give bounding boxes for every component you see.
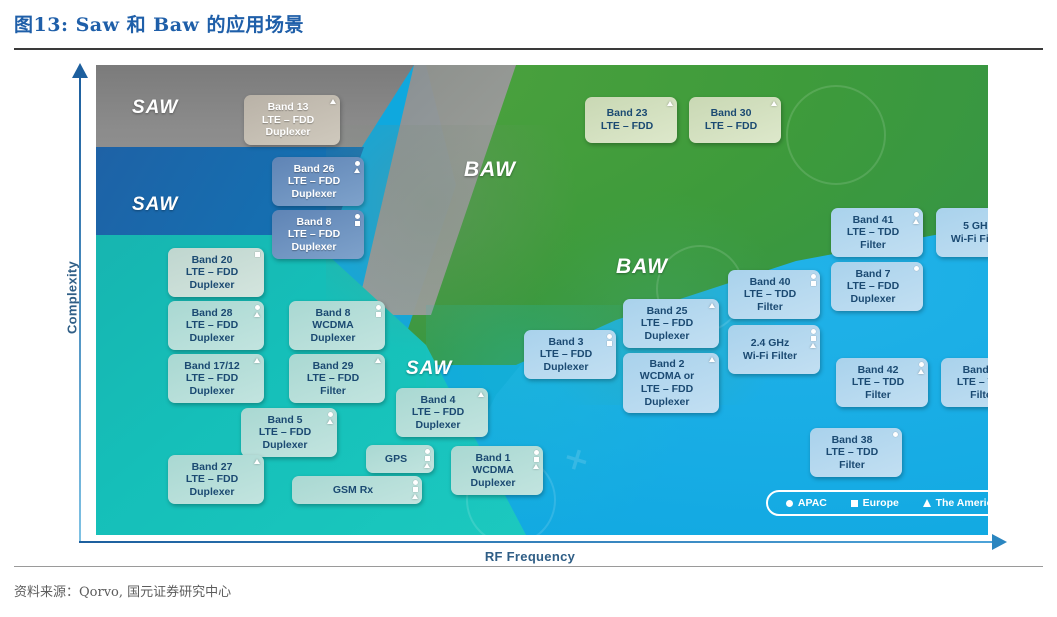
triangle-marker-icon (412, 494, 418, 499)
band-node-band-38[interactable]: Band 38LTE – TDDFilter (810, 428, 902, 477)
region-markers (810, 329, 816, 348)
circle-marker-icon (893, 432, 898, 437)
circle-marker-icon (914, 212, 919, 217)
band-node-line: Band 29 (313, 360, 354, 373)
region-markers (709, 303, 715, 308)
band-node-line: Duplexer (190, 279, 235, 292)
band-node-band-43[interactable]: Band 43LTE – TDDFilter (941, 358, 988, 407)
y-axis-arrow-icon (72, 63, 88, 78)
triangle-marker-icon (254, 459, 260, 464)
circle-marker-icon (355, 214, 360, 219)
source-note: 资料来源：Qorvo, 国元证券研究中心 (14, 581, 231, 600)
band-node-line: Band 5 (267, 414, 302, 427)
band-node-line: GPS (385, 453, 407, 466)
band-node-band-29[interactable]: Band 29LTE – FDDFilter (289, 354, 385, 403)
band-node-band-25[interactable]: Band 25LTE – FDDDuplexer (623, 299, 719, 348)
triangle-marker-icon (709, 303, 715, 308)
band-node-line: LTE – FDD (186, 319, 238, 332)
region-markers (533, 450, 539, 469)
band-node-line: Filter (757, 301, 783, 314)
band-node-band-2[interactable]: Band 2WCDMA orLTE – FDDDuplexer (623, 353, 719, 413)
band-node-gps[interactable]: GPS (366, 445, 434, 473)
square-marker-icon (811, 281, 816, 286)
band-node-line: GSM Rx (333, 484, 373, 497)
region-markers (254, 358, 260, 363)
band-node-band-3[interactable]: Band 3LTE – FDDDuplexer (524, 330, 616, 379)
triangle-marker-icon (327, 419, 333, 424)
band-node-line: Band 13 (268, 101, 309, 114)
triangle-marker-icon (354, 168, 360, 173)
square-marker-icon (851, 500, 858, 507)
band-node-line: Band 41 (853, 214, 894, 227)
band-node-line: Band 27 (192, 461, 233, 474)
legend: APAC Europe The Americas (766, 490, 988, 516)
band-node-line: Band 30 (711, 107, 752, 120)
band-node-band-27[interactable]: Band 27LTE – FDDDuplexer (168, 455, 264, 504)
circle-marker-icon (376, 305, 381, 310)
region-markers (424, 449, 430, 468)
triangle-marker-icon (375, 358, 381, 363)
band-node-band-5[interactable]: Band 5LTE – FDDDuplexer (241, 408, 337, 457)
square-marker-icon (355, 221, 360, 226)
band-node-line: LTE – TDD (957, 376, 988, 389)
band-node-line: LTE – FDD (641, 317, 693, 330)
band-node-band-1[interactable]: Band 1WCDMADuplexer (451, 446, 543, 495)
legend-label: APAC (798, 497, 827, 509)
band-node-band-30[interactable]: Band 30LTE – FDD (689, 97, 781, 143)
band-node-line: Wi-Fi Filter (951, 233, 988, 246)
band-node-line: Band 7 (855, 268, 890, 281)
legend-label: Europe (863, 497, 899, 509)
y-axis-label: Complexity (65, 243, 80, 353)
legend-item-apac: APAC (786, 497, 827, 509)
square-marker-icon (425, 456, 430, 461)
band-node-line: LTE – FDD (259, 426, 311, 439)
triangle-marker-icon (810, 343, 816, 348)
band-node-line: LTE – FDD (288, 175, 340, 188)
circle-marker-icon (413, 480, 418, 485)
band-node-line: Duplexer (292, 241, 337, 254)
region-markers (913, 212, 919, 224)
band-node-line: Filter (320, 385, 346, 398)
region-markers (327, 412, 333, 424)
band-node-line: Band 2 (649, 358, 684, 371)
band-node-band-42[interactable]: Band 42LTE – TDDFilter (836, 358, 928, 407)
band-node-line: WCDMA (472, 464, 513, 477)
square-marker-icon (413, 487, 418, 492)
band-node-line: Band 28 (192, 307, 233, 320)
circle-marker-icon (811, 329, 816, 334)
band-node-line: 5 GHz (963, 220, 988, 233)
band-node-line: LTE – FDD (262, 114, 314, 127)
band-node-line: Duplexer (190, 332, 235, 345)
region-markers (667, 101, 673, 106)
band-node-band-7[interactable]: Band 7LTE – FDDDuplexer (831, 262, 923, 311)
x-axis-label: RF Frequency (380, 549, 680, 564)
band-node-line: Band 26 (294, 163, 335, 176)
band-node-line: Band 43 (963, 364, 988, 377)
circle-marker-icon (425, 449, 430, 454)
band-node-line: 2.4 GHz (751, 337, 790, 350)
region-markers (607, 334, 612, 346)
triangle-marker-icon (771, 101, 777, 106)
region-markers (811, 274, 816, 286)
band-node-line: LTE – FDD (186, 473, 238, 486)
plot-area: ✕ SAW SAW SAW BAW BAW Band 13LTE – FDDDu… (96, 65, 988, 535)
triangle-marker-icon (533, 464, 539, 469)
band-node-band-26[interactable]: Band 26LTE – FDDDuplexer (272, 157, 364, 206)
band-node-line: LTE – FDD (847, 280, 899, 293)
band-node-line: Band 8 (315, 307, 350, 320)
square-marker-icon (607, 341, 612, 346)
region-markers (255, 252, 260, 257)
legend-item-europe: Europe (851, 497, 899, 509)
band-node-band-13[interactable]: Band 13LTE – FDDDuplexer (244, 95, 340, 145)
band-node-line: LTE – FDD (307, 372, 359, 385)
band-node-band-40[interactable]: Band 40LTE – TDDFilter (728, 270, 820, 319)
triangle-marker-icon (923, 499, 931, 507)
band-node-line: Duplexer (544, 361, 589, 374)
band-node-line: Duplexer (851, 293, 896, 306)
band-node-line: Duplexer (292, 188, 337, 201)
band-node-line: Band 20 (192, 254, 233, 267)
square-marker-icon (255, 252, 260, 257)
band-node-band-4[interactable]: Band 4LTE – FDDDuplexer (396, 388, 488, 437)
region-markers (355, 214, 360, 226)
band-node-line: Band 1 (475, 452, 510, 465)
band-node-wifi-24ghz[interactable]: 2.4 GHzWi-Fi Filter (728, 325, 820, 374)
band-node-line: Duplexer (471, 477, 516, 490)
triangle-marker-icon (330, 99, 336, 104)
band-node-line: Duplexer (645, 330, 690, 343)
square-marker-icon (534, 457, 539, 462)
triangle-marker-icon (918, 369, 924, 374)
band-node-band-23[interactable]: Band 23LTE – FDD (585, 97, 677, 143)
band-node-line: LTE – FDD (412, 406, 464, 419)
circle-marker-icon (914, 266, 919, 271)
band-node-line: Band 23 (607, 107, 648, 120)
band-node-line: Duplexer (266, 126, 311, 139)
band-node-line: LTE – TDD (826, 446, 878, 459)
band-node-line: LTE – FDD (186, 372, 238, 385)
x-axis-line (79, 541, 994, 543)
band-node-band-17-12[interactable]: Band 17/12LTE – FDDDuplexer (168, 354, 264, 403)
triangle-marker-icon (478, 392, 484, 397)
band-node-line: WCDMA or (640, 370, 694, 383)
square-marker-icon (811, 336, 816, 341)
x-axis-arrow-icon (992, 534, 1007, 550)
band-node-line: Band 38 (832, 434, 873, 447)
band-node-line: Duplexer (416, 419, 461, 432)
triangle-marker-icon (667, 101, 673, 106)
region-markers (412, 480, 418, 499)
region-title-baw-blue: BAW (616, 255, 668, 279)
band-node-line: Duplexer (190, 385, 235, 398)
square-marker-icon (376, 312, 381, 317)
region-markers (376, 305, 381, 317)
source-divider (14, 566, 1043, 567)
band-node-line: Duplexer (645, 396, 690, 409)
band-node-wifi-5ghz[interactable]: 5 GHzWi-Fi Filter (936, 208, 988, 257)
band-node-line: Band 4 (420, 394, 455, 407)
band-node-line: Filter (970, 389, 988, 402)
triangle-marker-icon (254, 312, 260, 317)
band-node-line: LTE – FDD (186, 266, 238, 279)
region-title-baw-green: BAW (464, 158, 516, 182)
band-node-band-41[interactable]: Band 41LTE – TDDFilter (831, 208, 923, 257)
band-node-line: Filter (860, 239, 886, 252)
band-node-band-8-lte[interactable]: Band 8LTE – FDDDuplexer (272, 210, 364, 259)
band-node-line: LTE – FDD (288, 228, 340, 241)
region-markers (330, 99, 336, 104)
region-markers (375, 358, 381, 363)
band-node-gsm-rx[interactable]: GSM Rx (292, 476, 422, 504)
band-node-line: LTE – FDD (705, 120, 757, 133)
title-divider (14, 48, 1043, 50)
region-markers (893, 432, 898, 437)
band-node-line: Band 42 (858, 364, 899, 377)
band-node-line: LTE – TDD (852, 376, 904, 389)
band-node-line: LTE – TDD (744, 288, 796, 301)
legend-item-americas: The Americas (923, 497, 988, 509)
band-node-line: Band 3 (548, 336, 583, 349)
band-node-line: LTE – FDD (601, 120, 653, 133)
band-node-line: Duplexer (190, 486, 235, 499)
circle-marker-icon (607, 334, 612, 339)
triangle-marker-icon (913, 219, 919, 224)
band-node-line: LTE – FDD (540, 348, 592, 361)
page-title: 图13: Saw 和 Baw 的应用场景 (14, 10, 304, 37)
region-title-saw-grey: SAW (132, 97, 178, 119)
band-node-band-8-wcd[interactable]: Band 8WCDMADuplexer (289, 301, 385, 350)
triangle-marker-icon (709, 357, 715, 362)
circle-marker-icon (786, 500, 793, 507)
band-node-line: WCDMA (312, 319, 353, 332)
band-node-line: Filter (865, 389, 891, 402)
band-node-line: Band 8 (296, 216, 331, 229)
region-markers (254, 459, 260, 464)
region-title-saw-blue: SAW (132, 194, 178, 216)
band-node-line: Band 17/12 (184, 360, 239, 373)
region-markers (771, 101, 777, 106)
triangle-marker-icon (424, 463, 430, 468)
band-node-line: Filter (839, 459, 865, 472)
band-node-line: Duplexer (311, 332, 356, 345)
region-markers (709, 357, 715, 362)
circle-marker-icon (328, 412, 333, 417)
region-markers (254, 305, 260, 317)
band-node-line: LTE – TDD (847, 226, 899, 239)
triangle-marker-icon (254, 358, 260, 363)
band-node-line: LTE – FDD (641, 383, 693, 396)
region-title-saw-teal: SAW (406, 358, 452, 380)
region-markers (354, 161, 360, 173)
region-markers (914, 266, 919, 271)
circle-marker-icon (919, 362, 924, 367)
region-markers (478, 392, 484, 397)
circle-marker-icon (355, 161, 360, 166)
circle-marker-icon (534, 450, 539, 455)
figure-chart: Complexity RF Frequency ✕ SAW SAW SAW BA… (50, 55, 1010, 560)
band-node-line: Band 40 (750, 276, 791, 289)
band-node-band-28[interactable]: Band 28LTE – FDDDuplexer (168, 301, 264, 350)
circle-marker-icon (811, 274, 816, 279)
legend-label: The Americas (936, 497, 988, 509)
band-node-line: Duplexer (263, 439, 308, 452)
band-node-band-20[interactable]: Band 20LTE – FDDDuplexer (168, 248, 264, 297)
region-markers (918, 362, 924, 374)
band-node-line: Wi-Fi Filter (743, 350, 797, 363)
figure-header: 图13: Saw 和 Baw 的应用场景 (14, 8, 1043, 48)
band-node-line: Band 25 (647, 305, 688, 318)
circle-marker-icon (255, 305, 260, 310)
